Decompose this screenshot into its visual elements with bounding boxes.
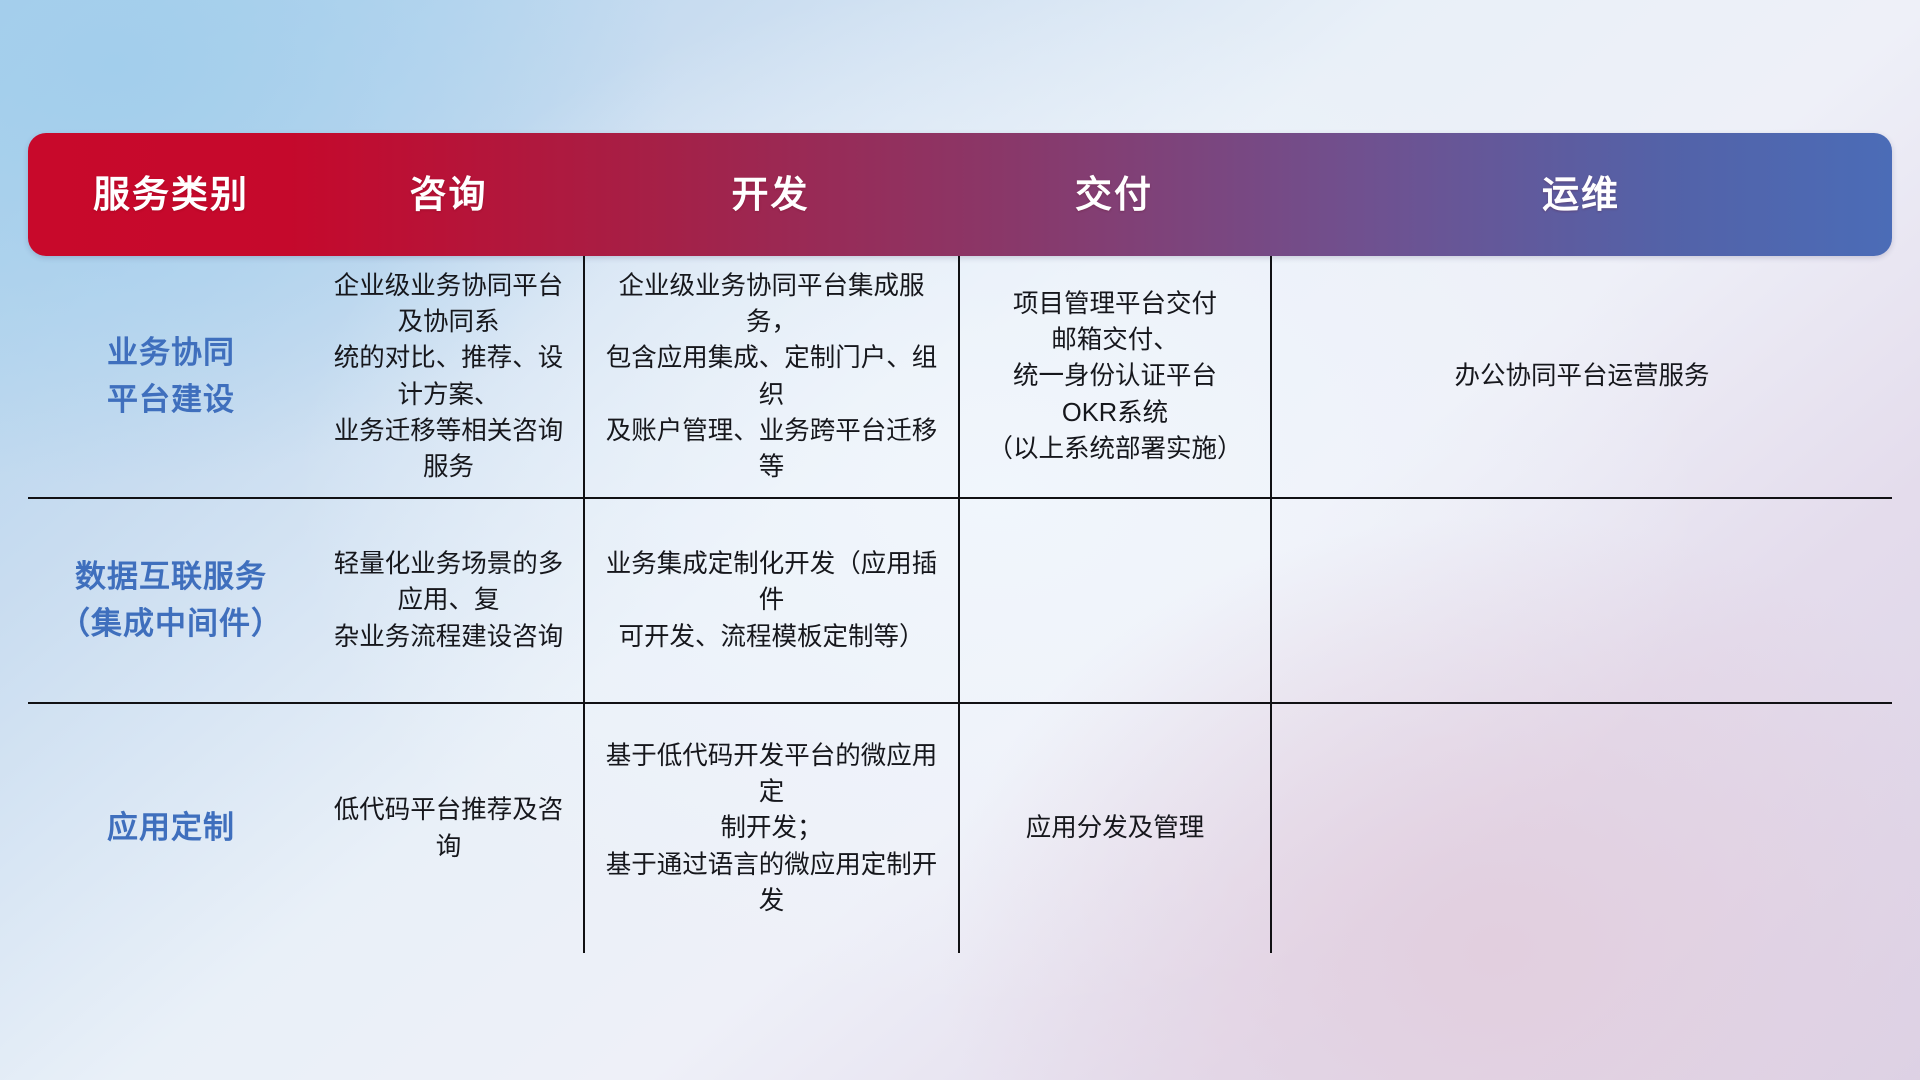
table-row: 应用定制 低代码平台推荐及咨询 基于低代码开发平台的微应用定 制开发； 基于通过… [28, 704, 1892, 953]
table-row: 数据互联服务 （集成中间件） 轻量化业务场景的多应用、复 杂业务流程建设咨询 业… [28, 499, 1892, 704]
cell-consulting-row2: 轻量化业务场景的多应用、复 杂业务流程建设咨询 [314, 499, 583, 702]
cell-delivery-row1: 项目管理平台交付 邮箱交付、 统一身份认证平台 OKR系统 （以上系统部署实施） [958, 256, 1270, 497]
slide-canvas: 服务类别 咨询 开发 交付 运维 业务协同 平台建设 企业级业务协同平台及协同系… [0, 0, 1920, 1080]
cell-development-row1: 企业级业务协同平台集成服务， 包含应用集成、定制门户、组织 及账户管理、业务跨平… [583, 256, 958, 497]
column-header-delivery: 交付 [958, 176, 1270, 213]
row-label-data-interconnect: 数据互联服务 （集成中间件） [28, 499, 314, 702]
table-header-row: 服务类别 咨询 开发 交付 运维 [28, 133, 1892, 256]
row-label-business-collaboration: 业务协同 平台建设 [28, 256, 314, 497]
cell-delivery-row2 [958, 499, 1270, 702]
column-header-operations: 运维 [1270, 176, 1892, 213]
service-matrix-table: 服务类别 咨询 开发 交付 运维 业务协同 平台建设 企业级业务协同平台及协同系… [28, 133, 1892, 953]
column-header-category: 服务类别 [28, 176, 314, 213]
table-row: 业务协同 平台建设 企业级业务协同平台及协同系 统的对比、推荐、设计方案、 业务… [28, 256, 1892, 499]
column-header-consulting: 咨询 [314, 176, 583, 213]
cell-consulting-row3: 低代码平台推荐及咨询 [314, 704, 583, 953]
cell-development-row2: 业务集成定制化开发（应用插件 可开发、流程模板定制等） [583, 499, 958, 702]
row-label-app-customization: 应用定制 [28, 704, 314, 953]
cell-operations-row2 [1270, 499, 1892, 702]
cell-operations-row3 [1270, 704, 1892, 953]
cell-delivery-row3: 应用分发及管理 [958, 704, 1270, 953]
table-body: 业务协同 平台建设 企业级业务协同平台及协同系 统的对比、推荐、设计方案、 业务… [28, 256, 1892, 953]
cell-consulting-row1: 企业级业务协同平台及协同系 统的对比、推荐、设计方案、 业务迁移等相关咨询服务 [314, 256, 583, 497]
cell-development-row3: 基于低代码开发平台的微应用定 制开发； 基于通过语言的微应用定制开发 [583, 704, 958, 953]
column-header-development: 开发 [583, 176, 958, 213]
cell-operations-row1: 办公协同平台运营服务 [1270, 256, 1892, 497]
